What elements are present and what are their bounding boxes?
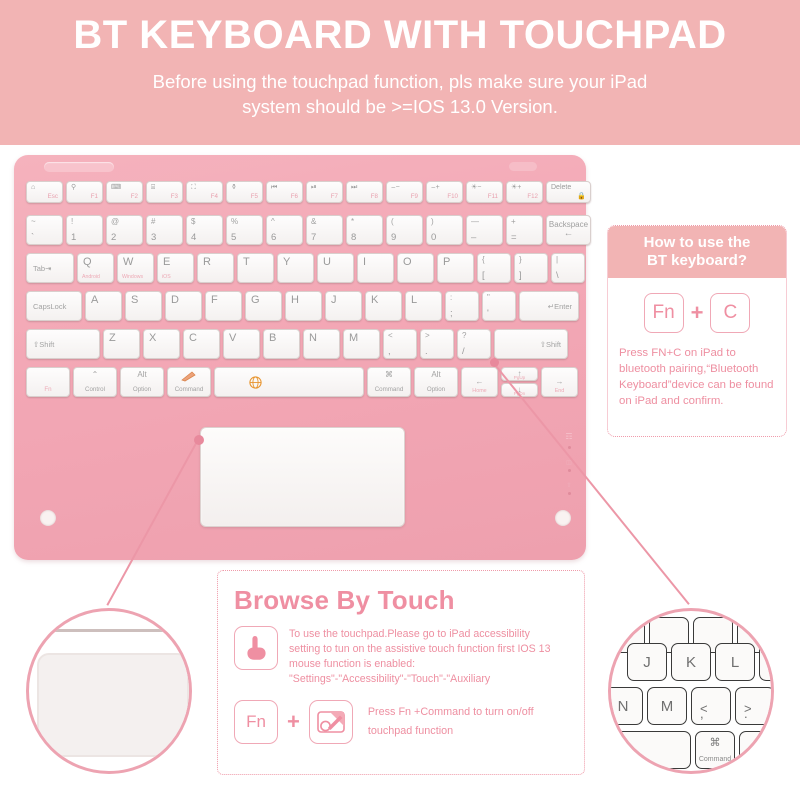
keyboard-row-home: CapsLockASDFGHJKL:;"'↵ Enter xyxy=(26,291,579,321)
key-label-command-right: Command xyxy=(368,386,410,393)
key-f12[interactable]: ☀+F12 xyxy=(506,181,543,203)
key-letter-d: D xyxy=(171,295,179,306)
key-shifted-9: ( xyxy=(391,218,394,226)
key-p[interactable]: P xyxy=(437,253,474,283)
key-shifted-11: — xyxy=(471,218,479,226)
header-subtitle-line2: system should be >=IOS 13.0 Version. xyxy=(80,95,720,120)
header-subtitle-line1: Before using the touchpad function, pls … xyxy=(80,70,720,95)
key-glyph-option: Alt xyxy=(137,371,146,379)
key-punc-top-0: : xyxy=(450,294,452,302)
key-bracket-top-1: } xyxy=(519,256,522,264)
header-subtitle: Before using the touchpad function, pls … xyxy=(80,70,720,120)
key-base-4: 4 xyxy=(191,233,196,243)
key-f[interactable]: F xyxy=(205,291,242,321)
panel-bt-instructions: How to use the BT keyboard? Fn + C Press… xyxy=(607,225,787,437)
screenshot-icon: ⛶ xyxy=(191,184,196,191)
key-tab[interactable]: Tab⇥ xyxy=(26,253,74,283)
command-glyph: ⌘ xyxy=(710,738,721,749)
key-letter-h: H xyxy=(291,295,299,306)
globe-icon xyxy=(249,376,262,392)
key-letter-v: V xyxy=(229,333,236,344)
infographic-page: BT KEYBOARD WITH TOUCHPAD Before using t… xyxy=(0,0,800,800)
key-home[interactable]: ←Home xyxy=(461,367,498,397)
search-icon: ⚲ xyxy=(71,184,76,191)
key-shifted-2: @ xyxy=(111,218,119,226)
key-backtick[interactable]: ~` xyxy=(26,215,63,245)
key-bracket-top-0: { xyxy=(482,256,485,264)
key-f11[interactable]: ☀−F11 xyxy=(466,181,503,203)
key-tab-label: Tab xyxy=(33,264,45,273)
panel-bt-heading-line2: BT keyboard? xyxy=(612,252,782,270)
key-f3[interactable]: ⌸F3 xyxy=(146,181,183,203)
key-j[interactable]: J xyxy=(325,291,362,321)
key-t[interactable]: T xyxy=(237,253,274,283)
key-f7[interactable]: ⏯F7 xyxy=(306,181,343,203)
magnifier-keys: J K L N M < , > . ⌘ Command xyxy=(608,608,774,774)
key-6[interactable]: ^6 xyxy=(266,215,303,245)
key-capslock[interactable]: CapsLock xyxy=(26,291,82,321)
magkey-l: L xyxy=(715,643,755,681)
key-letter-u: U xyxy=(323,257,331,268)
key-zpunc-bottom-2: / xyxy=(462,347,465,357)
key-letter-l: L xyxy=(411,295,417,306)
key-a[interactable]: A xyxy=(85,291,122,321)
key-f2[interactable]: ⌨F2 xyxy=(106,181,143,203)
key-base-5: 5 xyxy=(231,233,236,243)
key-shifted-12: + xyxy=(511,218,516,226)
key-0[interactable]: )0 xyxy=(426,215,463,245)
key-shifted-1: ! xyxy=(71,218,73,226)
arrow-right-icon: → xyxy=(556,378,564,386)
magnifier-touchpad xyxy=(26,608,192,774)
key-label-esc: Esc xyxy=(48,194,58,200)
key-esc[interactable]: ⌂Esc xyxy=(26,181,63,203)
panel-touch-step-1: To use the touchpad.Please go to iPad ac… xyxy=(234,626,568,687)
key-capslock-label: CapsLock xyxy=(33,302,66,311)
key-f1[interactable]: ⚲F1 xyxy=(66,181,103,203)
key-shift-right[interactable]: ⇧ Shift xyxy=(494,329,568,359)
key-label-f1: F1 xyxy=(91,194,98,200)
key-zpunc-0[interactable]: <, xyxy=(383,329,417,359)
key-letter-e: E xyxy=(163,257,170,268)
key-sublabel-e: iOS xyxy=(162,275,171,280)
key-f10[interactable]: ⌢+F10 xyxy=(426,181,463,203)
panel-touch-step-2: Fn + Press Fn +Command to turn on/off to… xyxy=(234,700,568,744)
key-base-0: ` xyxy=(31,233,34,243)
key-base-6: 6 xyxy=(271,233,276,243)
key-c[interactable]: C xyxy=(183,329,220,359)
key-h[interactable]: H xyxy=(285,291,322,321)
key-shift-left[interactable]: ⇧ Shift xyxy=(26,329,100,359)
keyboard-row-numbers: ~`!1@2#3$4%5^6&7*8(9)0—–+=Backspace← xyxy=(26,215,591,245)
key-glyph-command-right: ⌘ xyxy=(385,371,393,379)
magkey-comma-bottom: , xyxy=(700,707,704,720)
key-base-12: = xyxy=(511,233,517,243)
next-track-icon: ⏭ xyxy=(351,184,357,191)
key-shifted-5: % xyxy=(231,218,238,226)
arrow-left-icon: ← xyxy=(476,378,484,386)
step1-line2: setting to tun on the assistive touch fu… xyxy=(289,642,550,657)
panel-bt-body: Press FN+C on iPad to bluetooth pairing,… xyxy=(608,333,786,409)
key-v[interactable]: V xyxy=(223,329,260,359)
key-1[interactable]: !1 xyxy=(66,215,103,245)
key-shifted-8: * xyxy=(351,218,354,226)
key-letter-s: S xyxy=(131,295,138,306)
step1-line4: "Settings"-"Accessibility"-"Touch"-"Auxi… xyxy=(289,672,550,687)
key-shift-left-label: Shift xyxy=(39,340,54,349)
key-u[interactable]: U xyxy=(317,253,354,283)
key-base-3: 3 xyxy=(151,233,156,243)
rubber-foot-right xyxy=(555,510,571,526)
key-option[interactable]: AltOption xyxy=(120,367,164,397)
key-label-option: Option xyxy=(121,386,163,393)
hand-touch-icon xyxy=(234,626,278,670)
keyboard-top-slot xyxy=(44,162,114,172)
keyboard-row-qwerty: Tab⇥QAndroidWWindowsEiOSRTYUIOP{[}]|\ xyxy=(26,253,585,283)
key-bracket-bottom-2: \ xyxy=(556,271,559,281)
panel-touch-step-2-text: Press Fn +Command to turn on/off touchpa… xyxy=(362,703,534,741)
key-x[interactable]: X xyxy=(143,329,180,359)
key-y[interactable]: Y xyxy=(277,253,314,283)
led-indicator-3 xyxy=(568,492,571,495)
magkey-option xyxy=(739,731,774,769)
panel-bt-heading-line1: How to use the xyxy=(612,234,782,252)
keyboard-light-icon: ⌸ xyxy=(151,184,155,191)
key-zpunc-2[interactable]: ?/ xyxy=(457,329,491,359)
cursor-icon xyxy=(181,371,197,384)
plus-symbol: + xyxy=(691,300,704,326)
keyboard-edge-line xyxy=(26,629,192,632)
brightness-up-icon: ☀+ xyxy=(511,184,521,191)
volume-down-icon: ⌢− xyxy=(391,184,400,191)
key-letter-f: F xyxy=(211,295,218,306)
brightness-down-icon: ☀− xyxy=(471,184,481,191)
key-letter-y: Y xyxy=(283,257,290,268)
key-glyph-control: ⌃ xyxy=(92,371,99,379)
key-shifted-10: ) xyxy=(431,218,434,226)
volume-up-icon: ⌢+ xyxy=(431,184,440,191)
key-f9[interactable]: ⌢−F9 xyxy=(386,181,423,203)
key-–[interactable]: —– xyxy=(466,215,503,245)
key-8[interactable]: *8 xyxy=(346,215,383,245)
panel-browse-by-touch: Browse By Touch To use the touchpad.Plea… xyxy=(217,570,585,775)
key-letter-p: P xyxy=(443,257,450,268)
key-bracket-top-2: | xyxy=(556,256,558,264)
key-base-8: 8 xyxy=(351,233,356,243)
key-punc-top-1: " xyxy=(487,294,490,302)
key-punc-bottom-1: ' xyxy=(487,309,489,319)
key-o[interactable]: O xyxy=(397,253,434,283)
key-bracket-bottom-0: [ xyxy=(482,271,485,281)
keycap-fn: Fn xyxy=(644,293,684,333)
key-f5[interactable]: ⚱F5 xyxy=(226,181,263,203)
touchpad-closeup xyxy=(37,653,189,757)
key-zpunc-bottom-1: . xyxy=(425,347,428,357)
key-fn[interactable]: Fn xyxy=(26,367,70,397)
key-zpunc-top-2: ? xyxy=(462,332,466,340)
key-delete-label: Delete xyxy=(551,184,571,191)
key-letter-w: W xyxy=(123,257,133,268)
key-letter-c: C xyxy=(189,333,197,344)
key-r[interactable]: R xyxy=(197,253,234,283)
caps-icon: ⇧ xyxy=(563,483,575,489)
key-zpunc-top-0: < xyxy=(388,332,393,340)
key-label-f2: F2 xyxy=(131,194,138,200)
indicator-strip: ☶ ◫ ⇧ xyxy=(563,433,575,506)
magkey-j: J xyxy=(627,643,667,681)
keyboard-device: ⌂Esc⚲F1⌨F2⌸F3⛶F4⚱F5⏮F6⏯F7⏭F8⌢−F9⌢+F10☀−F… xyxy=(14,155,586,560)
magkey-k: K xyxy=(671,643,711,681)
key-base-7: 7 xyxy=(311,233,316,243)
key-end[interactable]: →End xyxy=(541,367,578,397)
key-command[interactable]: Command xyxy=(167,367,211,397)
keyboard-top-slot-secondary xyxy=(509,162,537,171)
key-base-9: 9 xyxy=(391,233,396,243)
key-i[interactable]: I xyxy=(357,253,394,283)
magkey-m: M xyxy=(647,687,687,725)
key-label-f4: F4 xyxy=(211,194,218,200)
leader-anchor-dot xyxy=(194,435,204,445)
key-punc-bottom-0: ; xyxy=(450,309,453,319)
key-m[interactable]: M xyxy=(343,329,380,359)
key-letter-g: G xyxy=(251,295,260,306)
key-5[interactable]: %5 xyxy=(226,215,263,245)
key-punc-0[interactable]: :; xyxy=(445,291,479,321)
keyboard-row-zxcv: ⇧ ShiftZXCVBNM<,>.?/⇧ Shift xyxy=(26,329,568,359)
key-g[interactable]: G xyxy=(245,291,282,321)
magkey-period: > . xyxy=(735,687,774,725)
led-indicator-2 xyxy=(568,469,571,472)
step2-line1: Press Fn +Command to turn on/off xyxy=(368,703,534,722)
panel-touch-step-1-text: To use the touchpad.Please go to iPad ac… xyxy=(289,626,550,687)
lock-icon: 🔒 xyxy=(577,193,586,200)
key-b[interactable]: B xyxy=(263,329,300,359)
key-zpunc-top-1: > xyxy=(425,332,430,340)
key-letter-k: K xyxy=(371,295,378,306)
magkey-n: N xyxy=(608,687,643,725)
panel-bt-shortcut: Fn + C xyxy=(608,293,786,333)
key-f6[interactable]: ⏮F6 xyxy=(266,181,303,203)
tab-arrow-icon: ⇥ xyxy=(45,264,51,273)
key-letter-r: R xyxy=(203,257,211,268)
key-sublabel-q: Android xyxy=(82,275,100,280)
panel-bt-heading: How to use the BT keyboard? xyxy=(608,226,786,278)
key-end-label: End xyxy=(542,388,577,394)
key-enter[interactable]: ↵ Enter xyxy=(519,291,579,321)
key-letter-i: I xyxy=(363,257,366,268)
step2-line2: touchpad function xyxy=(368,722,534,741)
key-label-f3: F3 xyxy=(171,194,178,200)
bluetooth-signal-icon: ☶ xyxy=(563,433,575,441)
plus-symbol-2: + xyxy=(287,709,300,735)
key-letter-z: Z xyxy=(109,333,116,344)
key-label-f11: F11 xyxy=(488,194,498,200)
key-shift-right-label: Shift xyxy=(546,340,561,349)
key-w[interactable]: WWindows xyxy=(117,253,154,283)
key-4[interactable]: $4 xyxy=(186,215,223,245)
key-shifted-7: & xyxy=(311,218,316,226)
key-bracket-0[interactable]: {[ xyxy=(477,253,511,283)
key-label-f12: F12 xyxy=(527,194,538,200)
keycap-fn-small: Fn xyxy=(234,700,278,744)
magkey-period-bottom: . xyxy=(744,707,748,720)
key-base-1: 1 xyxy=(71,233,76,243)
key-backspace[interactable]: Backspace← xyxy=(546,215,591,245)
key-7[interactable]: &7 xyxy=(306,215,343,245)
key-l[interactable]: L xyxy=(405,291,442,321)
key-label-control: Control xyxy=(74,386,116,393)
key-letter-t: T xyxy=(243,257,250,268)
key-k[interactable]: K xyxy=(365,291,402,321)
touchpad[interactable] xyxy=(200,427,405,527)
key-f8[interactable]: ⏭F8 xyxy=(346,181,383,203)
led-indicator-1 xyxy=(568,446,571,449)
key-command-right[interactable]: ⌘Command xyxy=(367,367,411,397)
key-shifted-3: # xyxy=(151,218,155,226)
key-base-10: 0 xyxy=(431,233,436,243)
command-label: Command xyxy=(696,756,734,763)
key-shifted-0: ~ xyxy=(31,218,36,226)
key-label-fn: Fn xyxy=(27,386,69,393)
key-option-right[interactable]: AltOption xyxy=(414,367,458,397)
key-n[interactable]: N xyxy=(303,329,340,359)
key-e[interactable]: EiOS xyxy=(157,253,194,283)
magkey-command: ⌘ Command xyxy=(695,731,735,769)
key-2[interactable]: @2 xyxy=(106,215,143,245)
page-title: BT KEYBOARD WITH TOUCHPAD xyxy=(73,14,726,56)
key-glyph-option-right: Alt xyxy=(431,371,440,379)
key-bracket-2[interactable]: |\ xyxy=(551,253,585,283)
key-f4[interactable]: ⛶F4 xyxy=(186,181,223,203)
key-base-11: – xyxy=(471,233,476,243)
key-label-f7: F7 xyxy=(331,194,338,200)
key-label-f8: F8 xyxy=(371,194,378,200)
key-letter-n: N xyxy=(309,333,317,344)
touchpad-swipe-icon xyxy=(309,700,353,744)
magkey-spacebar xyxy=(608,731,691,769)
key-punc-1[interactable]: "' xyxy=(482,291,516,321)
key-3[interactable]: #3 xyxy=(146,215,183,245)
key-s[interactable]: S xyxy=(125,291,162,321)
header-banner: BT KEYBOARD WITH TOUCHPAD Before using t… xyxy=(0,0,800,145)
key-letter-x: X xyxy=(149,333,156,344)
key-home-label: Home xyxy=(462,388,497,394)
home-icon: ⌂ xyxy=(31,184,35,191)
panel-touch-title: Browse By Touch xyxy=(234,585,568,616)
key-bracket-bottom-1: ] xyxy=(519,271,522,281)
key-shifted-6: ^ xyxy=(271,218,275,226)
key-shifted-4: $ xyxy=(191,218,195,226)
step1-line1: To use the touchpad.Please go to iPad ac… xyxy=(289,627,550,642)
magkey-comma: < , xyxy=(691,687,731,725)
key-letter-o: O xyxy=(403,257,412,268)
rubber-foot-left xyxy=(40,510,56,526)
key-letter-m: M xyxy=(349,333,358,344)
lock-screen-icon: ⚱ xyxy=(231,184,237,191)
key-letter-j: J xyxy=(331,295,337,306)
key-label-f6: F6 xyxy=(291,194,298,200)
leader-anchor-dot xyxy=(490,358,499,367)
key-enter-label: Enter xyxy=(554,302,572,311)
key-control[interactable]: ⌃Control xyxy=(73,367,117,397)
keyboard-row-function: ⌂Esc⚲F1⌨F2⌸F3⛶F4⚱F5⏮F6⏯F7⏭F8⌢−F9⌢+F10☀−F… xyxy=(26,181,591,203)
key-d[interactable]: D xyxy=(165,291,202,321)
key-bracket-1[interactable]: }] xyxy=(514,253,548,283)
key-letter-a: A xyxy=(91,295,98,306)
previous-track-icon: ⏮ xyxy=(271,184,277,191)
key-label-option-right: Option xyxy=(415,386,457,393)
key-z[interactable]: Z xyxy=(103,329,140,359)
key-q[interactable]: QAndroid xyxy=(77,253,114,283)
step1-line3: mouse function is enabled: xyxy=(289,657,550,672)
key-letter-b: B xyxy=(269,333,276,344)
key-label-command: Command xyxy=(168,386,210,393)
language-icon: ⌨ xyxy=(111,184,121,191)
keyboard-row-modifiers: Fn⌃ControlAltOptionCommand⌘CommandAltOpt… xyxy=(26,367,578,397)
key-9[interactable]: (9 xyxy=(386,215,423,245)
backspace-arrow-icon: ← xyxy=(564,229,574,239)
key-=[interactable]: += xyxy=(506,215,543,245)
play-pause-icon: ⏯ xyxy=(311,184,317,191)
magkey-semicolon xyxy=(759,643,774,681)
key-letter-q: Q xyxy=(83,257,92,268)
key-base-2: 2 xyxy=(111,233,116,243)
key-label-f9: F9 xyxy=(411,194,418,200)
key-zpunc-bottom-0: , xyxy=(388,347,391,357)
key-spacebar[interactable] xyxy=(214,367,364,397)
key-sublabel-w: Windows xyxy=(122,275,143,280)
key-label-f5: F5 xyxy=(251,194,258,200)
key-delete[interactable]: Delete🔒 xyxy=(546,181,591,203)
key-zpunc-1[interactable]: >. xyxy=(420,329,454,359)
key-label-f10: F10 xyxy=(447,194,458,200)
keycap-c: C xyxy=(710,293,750,333)
